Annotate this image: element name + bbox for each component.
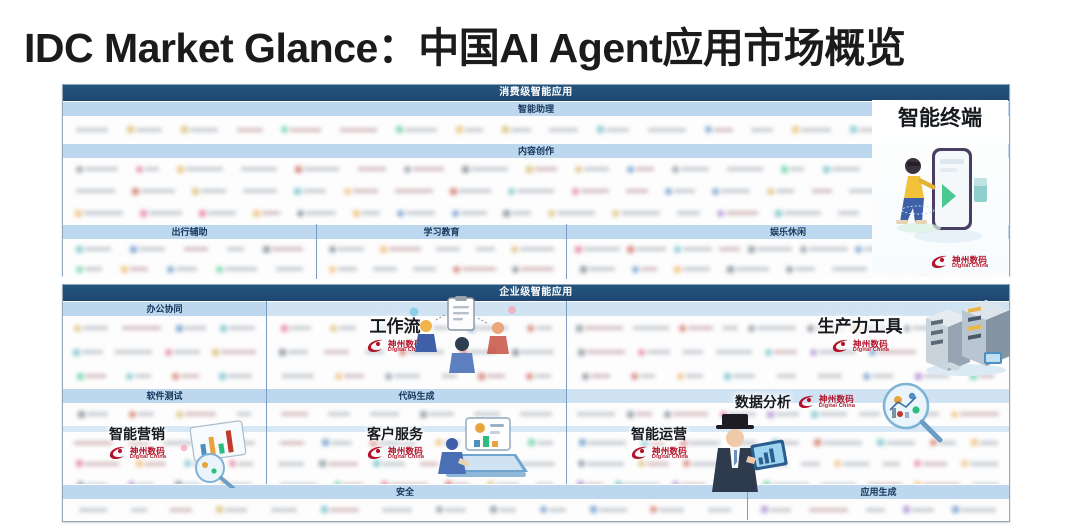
vendor-logo-mark (712, 188, 719, 195)
vendor-logo-placeholder (395, 189, 433, 193)
vendor-logo-wordmark (442, 374, 457, 378)
vendor-logo-mark (786, 266, 793, 273)
vendor-logo-wordmark (588, 441, 626, 445)
vendor-logo-mark (627, 246, 634, 253)
vendor-logo-wordmark (413, 267, 436, 271)
vendor-logo-wordmark (688, 326, 713, 330)
vendor-logo-wordmark (303, 189, 326, 193)
vendor-logo-wordmark (238, 462, 253, 466)
vendor-logo-placeholder (220, 325, 255, 332)
vendor-logo-wordmark (382, 508, 412, 512)
vendor-logo-mark (869, 349, 876, 356)
vendor-logo-mark (576, 325, 583, 332)
vendor-logo-mark (344, 188, 351, 195)
vendor-logo-placeholder (420, 462, 438, 466)
vendor-logo-placeholder (136, 460, 166, 467)
vendor-logo-mark (435, 439, 442, 446)
vendor-logo-wordmark (683, 350, 703, 354)
vendor-logo-wordmark (76, 128, 108, 132)
vendor-logo-mark (814, 439, 821, 446)
vendor-logo-placeholder (478, 441, 510, 445)
brand-name-en: Digital China (952, 264, 988, 270)
vendor-logo-mark (126, 373, 133, 380)
vendor-logo-wordmark (686, 374, 703, 378)
vendor-logo-placeholder (216, 506, 247, 513)
vendor-logo-wordmark (83, 326, 108, 330)
vendor-logo-placeholder (575, 166, 609, 173)
vendor-logo-wordmark (535, 167, 557, 171)
enterprise-column-left: 办公协同 软件测试 (63, 301, 266, 484)
vendor-logo-mark (850, 126, 857, 133)
vendor-logo-wordmark (878, 350, 916, 354)
vendor-logo-placeholder (353, 210, 380, 217)
vendor-logo-placeholder (358, 167, 386, 171)
vendor-logo-wordmark (818, 374, 842, 378)
vendor-logo-placeholder (720, 411, 756, 418)
vendor-logo-placeholder (665, 188, 695, 195)
vendor-logo-placeholder (679, 325, 713, 332)
vendor-logo-wordmark (282, 374, 314, 378)
vendor-logo-wordmark (521, 462, 555, 466)
vendor-logo-wordmark (338, 267, 357, 271)
vendor-logo-mark (216, 266, 223, 273)
vendor-logo-mark (680, 439, 687, 446)
vendor-logo-mark (526, 373, 533, 380)
vendor-logo-wordmark (599, 508, 627, 512)
vendor-logo-mark (380, 246, 387, 253)
vendor-logo-placeholder (680, 439, 720, 446)
vendor-logo-wordmark (339, 326, 356, 330)
vendor-logo-wordmark (606, 128, 629, 132)
vendor-logo-wordmark (726, 211, 758, 215)
vendor-logo-placeholder (253, 210, 280, 217)
vendor-logo-placeholder (811, 411, 847, 418)
vendor-logo-placeholder (575, 246, 620, 253)
vendor-logo-wordmark (288, 350, 308, 354)
vendor-logo-mark (220, 325, 227, 332)
vendor-logo-placeholder (176, 325, 206, 332)
subheader-content-creation: 内容创作 (63, 143, 1009, 158)
vendor-logo-placeholder (132, 188, 175, 195)
logo-block-productivity-tools (567, 316, 1009, 388)
vendor-logo-placeholder (712, 188, 750, 195)
vendor-logo-wordmark (757, 247, 792, 251)
vendor-logo-wordmark (394, 374, 420, 378)
vendor-logo-mark (590, 506, 597, 513)
vendor-logo-placeholder (74, 325, 108, 332)
vendor-logo-wordmark (82, 350, 103, 354)
vendor-logo-placeholder (863, 373, 893, 380)
vendor-logo-wordmark (185, 326, 206, 330)
vendor-logo-placeholder (165, 349, 200, 356)
vendor-logo-mark (627, 411, 634, 418)
vendor-logo-wordmark (535, 374, 551, 378)
vendor-logo-placeholder (748, 246, 792, 253)
vendor-logo-placeholder (77, 373, 106, 380)
vendor-logo-mark (199, 210, 206, 217)
vendor-logo-wordmark (262, 211, 280, 215)
vendor-logo-mark (781, 166, 788, 173)
vendor-logo-mark (548, 210, 555, 217)
vendor-logo-mark (177, 166, 184, 173)
vendor-logo-mark (212, 349, 219, 356)
vendor-logo-mark (761, 506, 768, 513)
vendor-logo-mark (396, 126, 403, 133)
vendor-logo-mark (321, 506, 328, 513)
vendor-logo-wordmark (591, 374, 610, 378)
vendor-logo-placeholder (335, 373, 364, 380)
vendor-logo-mark (335, 373, 342, 380)
vendor-logo-mark (184, 460, 191, 467)
vendor-logo-wordmark (237, 412, 251, 416)
vendor-logo-wordmark (86, 374, 106, 378)
vendor-logo-wordmark (912, 326, 948, 330)
vendor-logo-placeholder (810, 349, 856, 356)
vendor-logo-placeholder (579, 439, 626, 446)
vendor-logo-placeholder (765, 349, 797, 356)
vendor-logo-placeholder (212, 349, 256, 356)
vendor-logo-placeholder (219, 373, 252, 380)
vendor-logo-wordmark (816, 326, 842, 330)
vendor-logo-mark (468, 325, 475, 332)
vendor-logo-wordmark (290, 326, 311, 330)
vendor-logo-wordmark (585, 326, 623, 330)
vendor-logo-wordmark (185, 412, 216, 416)
vendor-logo-mark (373, 460, 380, 467)
vendor-logo-mark (167, 266, 174, 273)
vendor-logo-placeholder (420, 411, 454, 418)
vendor-logo-placeholder (136, 166, 159, 173)
vendor-logo-placeholder (677, 373, 703, 380)
vendor-logo-placeholder (903, 506, 934, 513)
logo-strip-software-testing (63, 403, 266, 425)
vendor-logo-mark (136, 166, 143, 173)
vendor-logo-placeholder (319, 460, 358, 467)
vendor-logo-mark (674, 266, 681, 273)
vendor-logo-mark (129, 411, 136, 418)
vendor-logo-placeholder (708, 508, 731, 512)
vendor-logo-placeholder (952, 506, 996, 513)
vendor-logo-wordmark (587, 462, 624, 466)
vendor-logo-mark (329, 246, 336, 253)
vendor-logo-placeholder (929, 349, 962, 356)
vendor-logo-wordmark (872, 374, 893, 378)
vendor-logo-placeholder (719, 247, 740, 251)
vendor-logo-wordmark (362, 211, 380, 215)
vendor-logo-wordmark (823, 441, 862, 445)
vendor-logo-mark (855, 246, 862, 253)
vendor-logo-wordmark (589, 267, 615, 271)
vendor-logo-wordmark (385, 326, 414, 330)
vendor-logo-wordmark (801, 462, 820, 466)
vendor-logo-wordmark (716, 350, 752, 354)
vendor-logo-wordmark (499, 508, 516, 512)
vendor-logo-mark (279, 349, 286, 356)
vendor-logo-placeholder (115, 350, 152, 354)
vendor-logo-placeholder (781, 166, 804, 173)
vendor-logo-placeholder (632, 266, 657, 273)
vendor-logo-placeholder (866, 508, 885, 512)
vendor-logo-wordmark (626, 189, 648, 193)
vendor-logo-placeholder (75, 210, 123, 217)
vendor-logo-wordmark (379, 441, 416, 445)
vendor-logo-placeholder (650, 506, 684, 513)
vendor-logo-mark (322, 439, 329, 446)
enterprise-column-right (566, 301, 1009, 484)
vendor-logo-wordmark (683, 247, 712, 251)
vendor-logo-mark (612, 210, 619, 217)
vendor-logo-placeholder (892, 411, 939, 418)
vendor-logo-mark (772, 439, 779, 446)
vendor-logo-wordmark (984, 350, 999, 354)
vendor-logo-wordmark (647, 350, 670, 354)
vendor-logo-wordmark (477, 326, 508, 330)
vendor-logo-placeholder (340, 128, 377, 132)
vendor-logo-placeholder (508, 188, 554, 195)
vendor-logo-placeholder (814, 439, 862, 446)
vendor-logo-placeholder (279, 349, 308, 356)
vendor-logo-mark (121, 266, 128, 273)
vendor-logo-mark (961, 460, 968, 467)
enterprise-footer-columns: 安全 应用生成 (63, 484, 1009, 520)
vendor-logo-mark (724, 373, 731, 380)
enterprise-columns: 办公协同 软件测试 代码生成 (63, 301, 1009, 484)
vendor-logo-wordmark (938, 350, 962, 354)
vendor-logo-placeholder (512, 460, 555, 467)
vendor-logo-placeholder (961, 460, 998, 467)
vendor-logo-placeholder (468, 325, 508, 332)
vendor-logo-wordmark (714, 128, 733, 132)
vendor-logo-mark (397, 210, 404, 217)
vendor-logo-placeholder (786, 266, 815, 273)
vendor-logo-mark (456, 126, 463, 133)
vendor-logo-placeholder (832, 267, 867, 271)
vendor-logo-placeholder (181, 126, 218, 133)
vendor-logo-wordmark (820, 412, 847, 416)
vendor-logo-placeholder (229, 460, 253, 467)
vendor-logo-wordmark (587, 350, 625, 354)
vendor-logo-wordmark (444, 441, 460, 445)
vendor-logo-wordmark (832, 167, 860, 171)
vendor-logo-wordmark (770, 508, 791, 512)
vendor-logo-wordmark (128, 441, 149, 445)
vendor-logo-wordmark (225, 267, 257, 271)
vendor-logo-placeholder (79, 508, 107, 512)
vendor-logo-placeholder (456, 126, 483, 133)
vendor-logo-placeholder (578, 349, 625, 356)
vendor-logo-wordmark (131, 508, 147, 512)
vendor-logo-wordmark (819, 350, 856, 354)
vendor-logo-placeholder (877, 439, 915, 446)
vendor-logo-wordmark (584, 247, 620, 251)
vendor-logo-placeholder (344, 188, 378, 195)
vendor-logo-placeholder (460, 349, 496, 356)
vendor-logo-placeholder (520, 412, 552, 416)
vendor-logo-placeholder (577, 412, 615, 416)
vendor-logo-wordmark (549, 128, 578, 132)
vendor-logo-wordmark (520, 247, 554, 251)
vendor-logo-placeholder (627, 166, 654, 173)
vendor-logo-placeholder (452, 210, 487, 217)
vendor-logo-placeholder (527, 325, 552, 332)
vendor-logo-placeholder (807, 325, 842, 332)
vendor-logo-placeholder (951, 411, 999, 418)
vendor-logo-placeholder (809, 508, 848, 512)
vendor-logo-mark (512, 349, 519, 356)
vendor-logo-wordmark (636, 247, 666, 251)
vendor-logo-wordmark (174, 350, 200, 354)
vendor-logo-placeholder (590, 506, 627, 513)
vendor-logo-placeholder (74, 441, 113, 445)
vendor-logo-wordmark (138, 412, 154, 416)
vendor-logo-placeholder (626, 189, 648, 193)
consumer-band-header: 消费级智能应用 (63, 85, 1009, 101)
vendor-logo-wordmark (777, 374, 796, 378)
vendor-logo-mark (490, 506, 497, 513)
column-learning-education: 学习教育 (316, 224, 566, 279)
vendor-logo-wordmark (621, 211, 660, 215)
subheader-office-collaboration: 办公协同 (63, 301, 266, 316)
vendor-logo-wordmark (520, 412, 552, 416)
vendor-logo-mark (528, 439, 535, 446)
vendor-logo-mark (281, 325, 288, 332)
vendor-logo-mark (765, 349, 772, 356)
vendor-logo-wordmark (328, 412, 350, 416)
vendor-logo-wordmark (181, 374, 199, 378)
vendor-logo-placeholder (127, 126, 162, 133)
vendor-logo-placeholder (823, 166, 860, 173)
vendor-logo-mark (811, 411, 818, 418)
vendor-logo-mark (140, 210, 147, 217)
logo-strip-data-analysis (567, 403, 1009, 425)
vendor-logo-wordmark (723, 326, 738, 330)
smart-terminal-label: 智能终端 (898, 102, 982, 132)
vendor-logo-placeholder (838, 211, 859, 215)
vendor-logo-wordmark (537, 441, 553, 445)
vendor-logo-mark (579, 439, 586, 446)
vendor-logo-mark (582, 373, 589, 380)
vendor-logo-placeholder (512, 266, 554, 273)
vendor-logo-wordmark (218, 441, 255, 445)
vendor-logo-wordmark (306, 211, 336, 215)
vendor-logo-wordmark (85, 462, 119, 466)
vendor-logo-wordmark (683, 267, 710, 271)
vendor-logo-mark (679, 325, 686, 332)
vendor-logo-wordmark (648, 128, 686, 132)
vendor-logo-wordmark (912, 508, 934, 512)
vendor-logo-mark (951, 411, 958, 418)
vendor-logo-mark (580, 266, 587, 273)
vendor-logo-placeholder (528, 439, 553, 446)
vendor-logo-placeholder (365, 350, 384, 354)
vendor-logo-mark (572, 188, 579, 195)
vendor-logo-placeholder (385, 373, 420, 380)
vendor-logo-wordmark (967, 326, 1000, 330)
vendor-logo-wordmark (243, 189, 277, 193)
vendor-logo-mark (632, 266, 639, 273)
vendor-logo-wordmark (536, 326, 552, 330)
vendor-logo-placeholder (380, 246, 421, 253)
vendor-logo-mark (404, 166, 411, 173)
vendor-logo-mark (219, 373, 226, 380)
vendor-logo-mark (665, 188, 672, 195)
vendor-logo-wordmark (145, 462, 166, 466)
vendor-logo-placeholder (282, 374, 314, 378)
vendor-logo-mark (399, 349, 406, 356)
vendor-logo-mark (578, 349, 585, 356)
vendor-logo-wordmark (365, 350, 384, 354)
vendor-logo-wordmark (228, 374, 252, 378)
vendor-logo-placeholder (404, 166, 444, 173)
vendor-logo-mark (478, 373, 485, 380)
vendor-logo-mark (672, 166, 679, 173)
vendor-logo-wordmark (136, 128, 162, 132)
vendor-logo-mark (420, 411, 427, 418)
vendor-logo-wordmark (406, 211, 435, 215)
vendor-logo-mark (165, 349, 172, 356)
vendor-logo-wordmark (581, 189, 609, 193)
vendor-logo-placeholder (638, 349, 670, 356)
vendor-logo-wordmark (141, 189, 175, 193)
vendor-logo-wordmark (812, 189, 832, 193)
vendor-logo-mark (370, 439, 377, 446)
vendor-logo-wordmark (170, 508, 192, 512)
vendor-logo-placeholder (321, 506, 359, 513)
vendor-logo-wordmark (776, 189, 794, 193)
vendor-logo-wordmark (79, 508, 107, 512)
vendor-logo-placeholder (503, 210, 531, 217)
logo-strip-security (63, 499, 747, 520)
smart-terminal-panel: 智能终端 神州数码 Digital China (872, 100, 1008, 274)
vendor-logo-wordmark (139, 247, 165, 251)
vendor-logo-wordmark (186, 167, 223, 171)
vendor-logo-placeholder (373, 460, 405, 467)
vendor-logo-wordmark (85, 247, 111, 251)
vendor-logo-placeholder (677, 211, 700, 215)
vendor-logo-wordmark (280, 441, 304, 445)
vendor-logo-placeholder (597, 126, 629, 133)
vendor-logo-mark (460, 349, 467, 356)
vendor-logo-wordmark (843, 462, 869, 466)
vendor-logo-wordmark (692, 462, 731, 466)
vendor-logo-wordmark (838, 211, 859, 215)
enterprise-applications-board: 企业级智能应用 办公协同 软件测试 (62, 284, 1010, 522)
vendor-logo-placeholder (436, 506, 466, 513)
vendor-logo-mark (834, 460, 841, 467)
vendor-logo-mark (385, 373, 392, 380)
vendor-logo-mark (527, 325, 534, 332)
vendor-logo-wordmark (227, 247, 244, 251)
vendor-logo-placeholder (638, 460, 669, 467)
vendor-logo-wordmark (74, 441, 113, 445)
vendor-logo-mark (720, 411, 727, 418)
vendor-logo-placeholder (276, 267, 303, 271)
vendor-logo-mark (975, 349, 982, 356)
vendor-logo-mark (526, 166, 533, 173)
vendor-logo-wordmark (961, 508, 996, 512)
vendor-logo-mark (638, 349, 645, 356)
vendor-logo-wordmark (395, 189, 433, 193)
vendor-logo-wordmark (735, 441, 757, 445)
vendor-logo-mark (452, 210, 459, 217)
vendor-logo-placeholder (76, 189, 115, 193)
vendor-logo-wordmark (774, 350, 797, 354)
page-title: IDC Market Glance：中国AI Agent应用市场概览 (24, 14, 1064, 74)
vendor-logo-placeholder (716, 350, 752, 354)
vendor-logo-wordmark (221, 350, 256, 354)
vendor-logo-placeholder (767, 411, 799, 418)
vendor-logo-placeholder (163, 441, 194, 445)
